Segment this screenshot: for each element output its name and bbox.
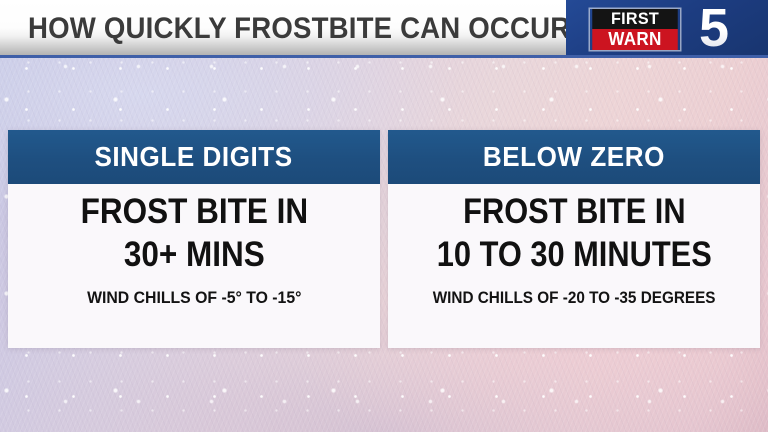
panel-below-zero-subtext: WIND CHILLS OF -20 TO -35 DEGREES [433, 288, 716, 308]
panel-single-digits-subtext: WIND CHILLS OF -5° TO -15° [87, 288, 301, 308]
logo-channel-number: 5 [686, 0, 742, 57]
panel-below-zero-header: BELOW ZERO [388, 130, 760, 184]
title-bar-accent-line [0, 55, 566, 58]
weather-graphic-screen: HOW QUICKLY FROSTBITE CAN OCCUR FIRST WA… [0, 0, 768, 432]
title-bar: HOW QUICKLY FROSTBITE CAN OCCUR FIRST WA… [0, 0, 768, 58]
panel-below-zero-line1: FROST BITE IN [463, 194, 685, 231]
page-title: HOW QUICKLY FROSTBITE CAN OCCUR [28, 8, 570, 50]
panel-single-digits-line1: FROST BITE IN [80, 194, 308, 231]
logo-warn-text: WARN [592, 29, 678, 50]
panel-single-digits-header: SINGLE DIGITS [8, 130, 380, 184]
station-logo: FIRST WARN 5 [566, 0, 768, 58]
panel-below-zero-line2: 10 TO 30 MINUTES [436, 237, 711, 274]
panel-single-digits-body: FROST BITE IN 30+ MINS WIND CHILLS OF -5… [8, 184, 380, 348]
panel-single-digits-heading: SINGLE DIGITS [95, 141, 293, 173]
panel-single-digits: SINGLE DIGITS FROST BITE IN 30+ MINS WIN… [8, 130, 380, 348]
logo-first-text: FIRST [592, 9, 678, 29]
panel-below-zero: BELOW ZERO FROST BITE IN 10 TO 30 MINUTE… [388, 130, 760, 348]
panel-below-zero-body: FROST BITE IN 10 TO 30 MINUTES WIND CHIL… [388, 184, 760, 348]
panel-below-zero-heading: BELOW ZERO [483, 141, 665, 173]
panel-single-digits-line2: 30+ MINS [124, 237, 265, 274]
first-warn-logo-stack: FIRST WARN [590, 9, 680, 50]
